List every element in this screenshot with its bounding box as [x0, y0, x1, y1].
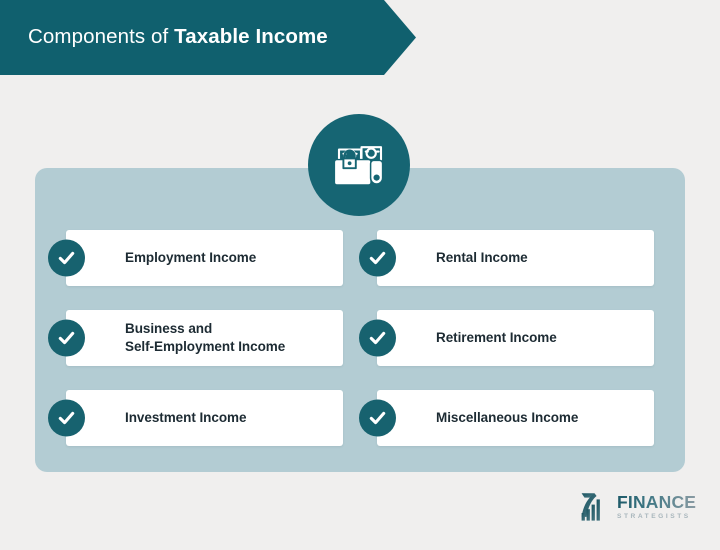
list-item-label: Employment Income: [125, 249, 256, 267]
brand-logo: FINANCE STRATEGISTS: [578, 487, 710, 527]
brand-name-primary: FINANCE: [617, 494, 696, 512]
list-item-label: Investment Income: [125, 409, 246, 427]
check-icon: [359, 240, 396, 277]
title-banner: Components of Taxable Income: [0, 0, 416, 75]
brand-logo-wordmark: FINANCE STRATEGISTS: [617, 494, 696, 521]
list-item[interactable]: Retirement Income: [377, 310, 654, 366]
list-item[interactable]: Rental Income: [377, 230, 654, 286]
briefcase-money-badge: [308, 114, 410, 216]
check-icon: [48, 320, 85, 357]
check-icon: [359, 400, 396, 437]
page-title: Components of Taxable Income: [0, 27, 328, 48]
list-item-label: Rental Income: [436, 249, 528, 267]
page-title-regular: Components of: [28, 25, 174, 48]
briefcase-money-icon: [331, 138, 387, 192]
check-icon: [359, 320, 396, 357]
chart-bars-swoosh-icon: [578, 491, 614, 523]
list-item[interactable]: Employment Income: [66, 230, 343, 286]
brand-name-secondary: STRATEGISTS: [617, 514, 696, 521]
list-item-label: Retirement Income: [436, 329, 557, 347]
list-item-label: Miscellaneous Income: [436, 409, 578, 427]
list-item[interactable]: Investment Income: [66, 390, 343, 446]
list-item[interactable]: Miscellaneous Income: [377, 390, 654, 446]
list-item[interactable]: Business and Self-Employment Income: [66, 310, 343, 366]
list-item-label: Business and Self-Employment Income: [125, 320, 285, 356]
check-icon: [48, 240, 85, 277]
check-icon: [48, 400, 85, 437]
infographic-canvas: Components of Taxable Income: [0, 0, 720, 550]
page-title-bold: Taxable Income: [174, 25, 328, 48]
